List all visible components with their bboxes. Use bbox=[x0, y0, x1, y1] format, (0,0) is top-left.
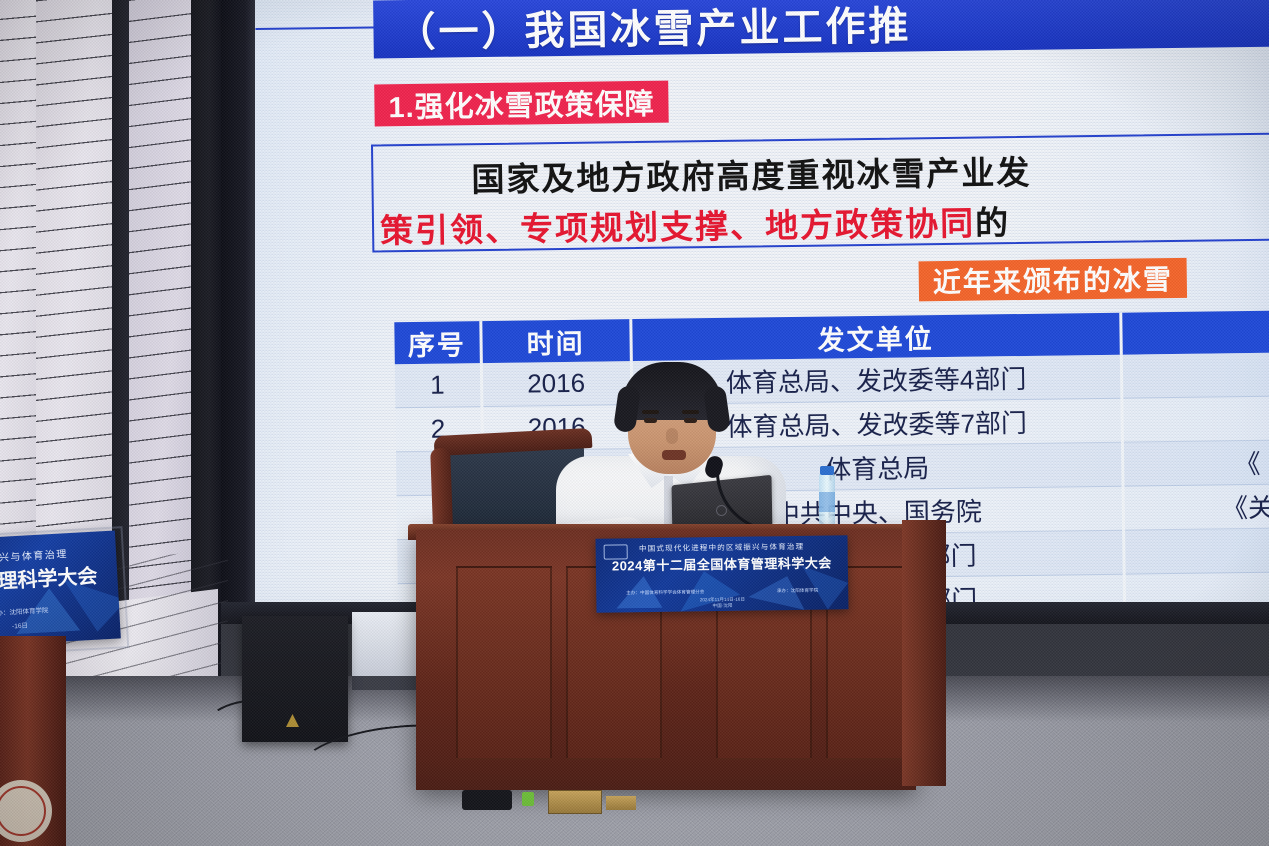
slide-section-badge: 1.强化冰雪政策保障 bbox=[374, 81, 669, 127]
dais-panel-inset bbox=[456, 566, 552, 760]
screen-left-edge bbox=[221, 0, 255, 624]
podium-banner-organizer: 承办：沈阳体育学院 bbox=[777, 588, 818, 595]
slide-paragraph-line2: 策引领、专项规划支撑、地方政策协同的 bbox=[380, 196, 1011, 252]
water-bottle-cap bbox=[820, 466, 834, 475]
brass-floor-outlet-plate bbox=[548, 790, 602, 814]
slide-callout-text: 近年来颁布的冰雪 bbox=[933, 258, 1174, 301]
laptop-logo-icon bbox=[716, 505, 727, 516]
slide-title-bar: （一）我国冰雪产业工作推 bbox=[373, 0, 1269, 58]
presenter-eye-left bbox=[644, 418, 657, 423]
table-header-org: 发文单位 bbox=[630, 313, 1121, 361]
cell-doc: 《 bbox=[1122, 439, 1269, 486]
cell-doc: 《关 bbox=[1123, 483, 1269, 530]
paragraph-red-c: 地方政策协同 bbox=[765, 205, 975, 245]
cable-clip bbox=[522, 792, 534, 806]
podium-conference-banner: 中国式现代化进程中的区域振兴与体育治理 2024第十二届全国体育管理科学大会 主… bbox=[595, 535, 848, 613]
slide-callout-bar: 近年来颁布的冰雪 bbox=[919, 258, 1188, 302]
presenter-eye-right bbox=[684, 418, 697, 423]
cell-doc bbox=[1121, 352, 1269, 399]
presenter-nose bbox=[666, 428, 678, 444]
presenter-eyebrow-right bbox=[682, 410, 699, 414]
paragraph-red-b: 专项规划支撑、 bbox=[520, 207, 765, 247]
podium-banner-host: 主办：中国体育科学学会体育管理分会 bbox=[626, 589, 704, 596]
water-bottle-label bbox=[819, 492, 835, 512]
table-header-time: 时间 bbox=[480, 319, 631, 363]
podium-banner-title: 2024第十二届全国体育管理科学大会 bbox=[596, 552, 848, 575]
paragraph-black-tail: 的 bbox=[975, 204, 1010, 241]
power-adapter bbox=[462, 790, 512, 810]
cell-doc bbox=[1123, 527, 1269, 574]
presenter-mouth bbox=[662, 450, 686, 460]
dais-right-column bbox=[902, 520, 946, 786]
cell-no: 1 bbox=[395, 363, 482, 408]
presenter-eyebrow-left bbox=[642, 410, 659, 414]
slide-section-label: 1.强化冰雪政策保障 bbox=[388, 81, 655, 126]
slide-paragraph-line1: 国家及地方政府高度重视冰雪产业发 bbox=[471, 146, 1032, 201]
table-header-doc bbox=[1120, 310, 1269, 355]
screenshot-root: （一）我国冰雪产业工作推 1.强化冰雪政策保障 国家及地方政府高度重视冰雪产业发… bbox=[0, 0, 1269, 846]
table-header-no: 序号 bbox=[394, 321, 481, 364]
paragraph-red-a: 策引领、 bbox=[380, 211, 520, 250]
cell-doc bbox=[1121, 395, 1269, 442]
slide-title: （一）我国冰雪产业工作推 bbox=[395, 0, 912, 58]
brass-floor-outlet-plate bbox=[606, 796, 636, 810]
presenter-hair bbox=[622, 362, 722, 420]
